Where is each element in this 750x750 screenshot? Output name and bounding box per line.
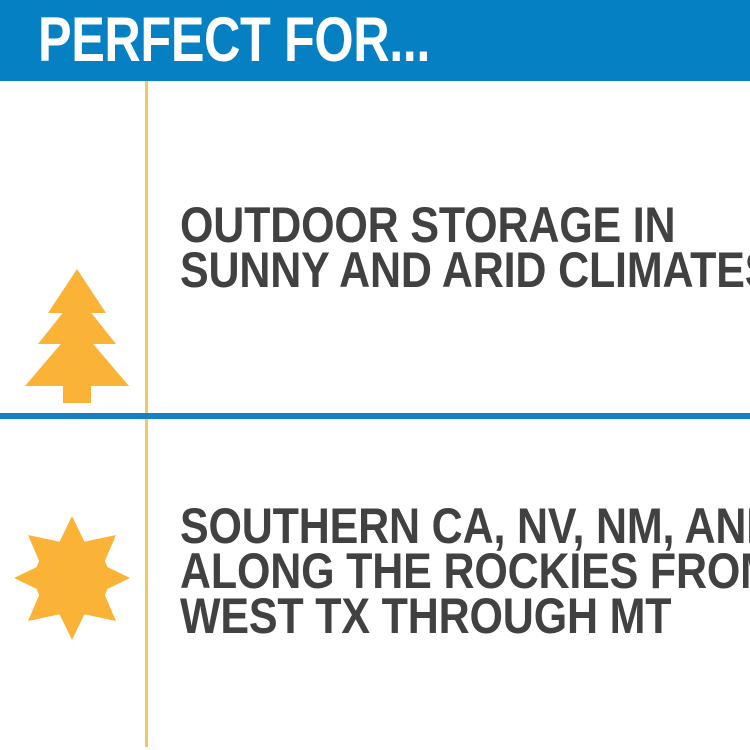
sun-icon xyxy=(14,516,130,645)
pine-tree-icon xyxy=(23,269,131,408)
icon-cell-outdoor xyxy=(0,81,145,413)
header-bar: PERFECT FOR... xyxy=(0,0,750,81)
row-outdoor-text: OUTDOOR STORAGE IN SUNNY AND ARID CLIMAT… xyxy=(180,203,750,293)
row-regions: SOUTHERN CA, NV, NM, AND ALONG THE ROCKI… xyxy=(0,419,750,750)
text-cell-regions: SOUTHERN CA, NV, NM, AND ALONG THE ROCKI… xyxy=(148,419,750,750)
row-outdoor-line-2: SUNNY AND ARID CLIMATES xyxy=(180,248,750,293)
text-cell-outdoor: OUTDOOR STORAGE IN SUNNY AND ARID CLIMAT… xyxy=(148,81,750,413)
row-regions-line-3: WEST TX THROUGH MT xyxy=(180,594,750,639)
icon-cell-regions xyxy=(0,419,145,750)
row-regions-text: SOUTHERN CA, NV, NM, AND ALONG THE ROCKI… xyxy=(180,504,750,639)
row-outdoor-storage: OUTDOOR STORAGE IN SUNNY AND ARID CLIMAT… xyxy=(0,81,750,413)
infographic-page: PERFECT FOR... OUTDOOR STORAGE IN SUNNY xyxy=(0,0,750,750)
page-title: PERFECT FOR... xyxy=(38,9,430,72)
